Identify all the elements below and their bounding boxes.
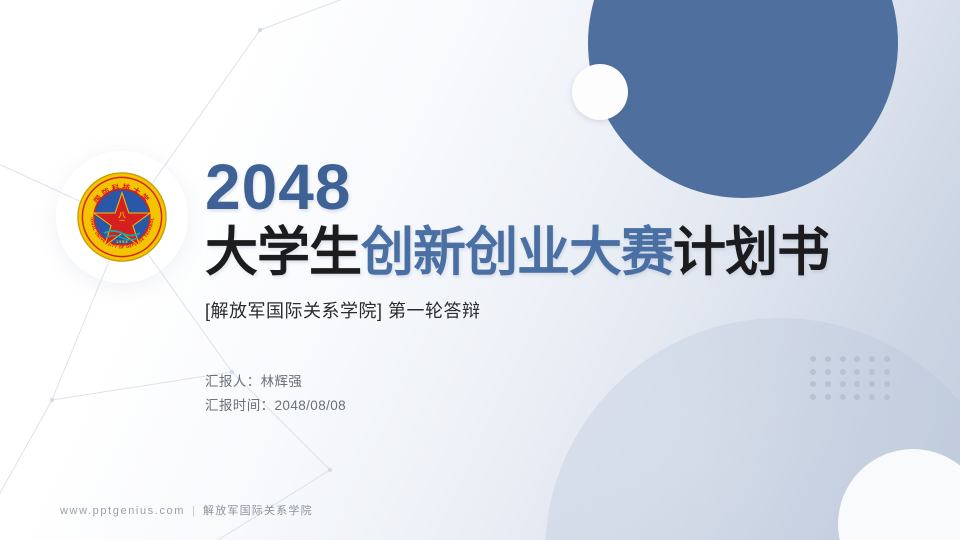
grid-dot <box>884 356 890 362</box>
footer: www.pptgenius.com|解放军国际关系学院 <box>60 502 313 518</box>
grid-dot <box>825 369 831 375</box>
grid-dot <box>810 394 816 400</box>
svg-text:一: 一 <box>119 218 125 224</box>
grid-dot <box>825 394 831 400</box>
grid-dot <box>884 369 890 375</box>
year-heading: 2048 <box>205 155 905 219</box>
grid-dot <box>825 356 831 362</box>
grid-dot <box>854 394 860 400</box>
grid-dot <box>810 369 816 375</box>
grid-dot <box>854 356 860 362</box>
university-emblem-logo: 国防科技大学 NATIONAL UNIVERSITY OF DEFENSE TE… <box>77 172 167 262</box>
grid-dot <box>884 381 890 387</box>
title-segment-prefix: 大学生 <box>205 223 361 282</box>
grid-dot <box>869 356 875 362</box>
footer-website: www.pptgenius.com <box>60 505 185 517</box>
grid-dot <box>854 381 860 387</box>
page-title: 大学生创新创业大赛计划书 <box>205 225 905 281</box>
footer-organization: 解放军国际关系学院 <box>203 505 313 517</box>
presentation-date: 汇报时间：2048/08/08 <box>205 394 346 418</box>
page-subtitle: [解放军国际关系学院] 第一轮答辩 <box>205 297 905 323</box>
presenter-meta-block: 汇报人：林辉强 汇报时间：2048/08/08 <box>205 370 346 417</box>
grid-dot <box>840 369 846 375</box>
small-white-circle-decoration <box>572 64 628 120</box>
grid-dot <box>810 381 816 387</box>
grid-dot <box>840 394 846 400</box>
title-segment-highlight: 创新创业大赛 <box>361 223 673 282</box>
grid-dot <box>869 394 875 400</box>
footer-separator: | <box>192 505 196 517</box>
grid-dot <box>825 381 831 387</box>
grid-dot <box>840 381 846 387</box>
presenter-name: 汇报人：林辉强 <box>205 370 346 394</box>
grid-dot <box>869 381 875 387</box>
presentation-cover-slide: 国防科技大学 NATIONAL UNIVERSITY OF DEFENSE TE… <box>0 0 960 540</box>
grid-dot <box>884 394 890 400</box>
grid-dot <box>854 369 860 375</box>
grid-dot <box>810 356 816 362</box>
title-text-block: 2048 大学生创新创业大赛计划书 [解放军国际关系学院] 第一轮答辩 <box>205 155 905 323</box>
grid-dot <box>840 356 846 362</box>
svg-text:1953: 1953 <box>116 240 128 244</box>
grid-dot <box>869 369 875 375</box>
dot-grid-decoration <box>806 353 894 403</box>
title-segment-suffix: 计划书 <box>673 223 829 282</box>
